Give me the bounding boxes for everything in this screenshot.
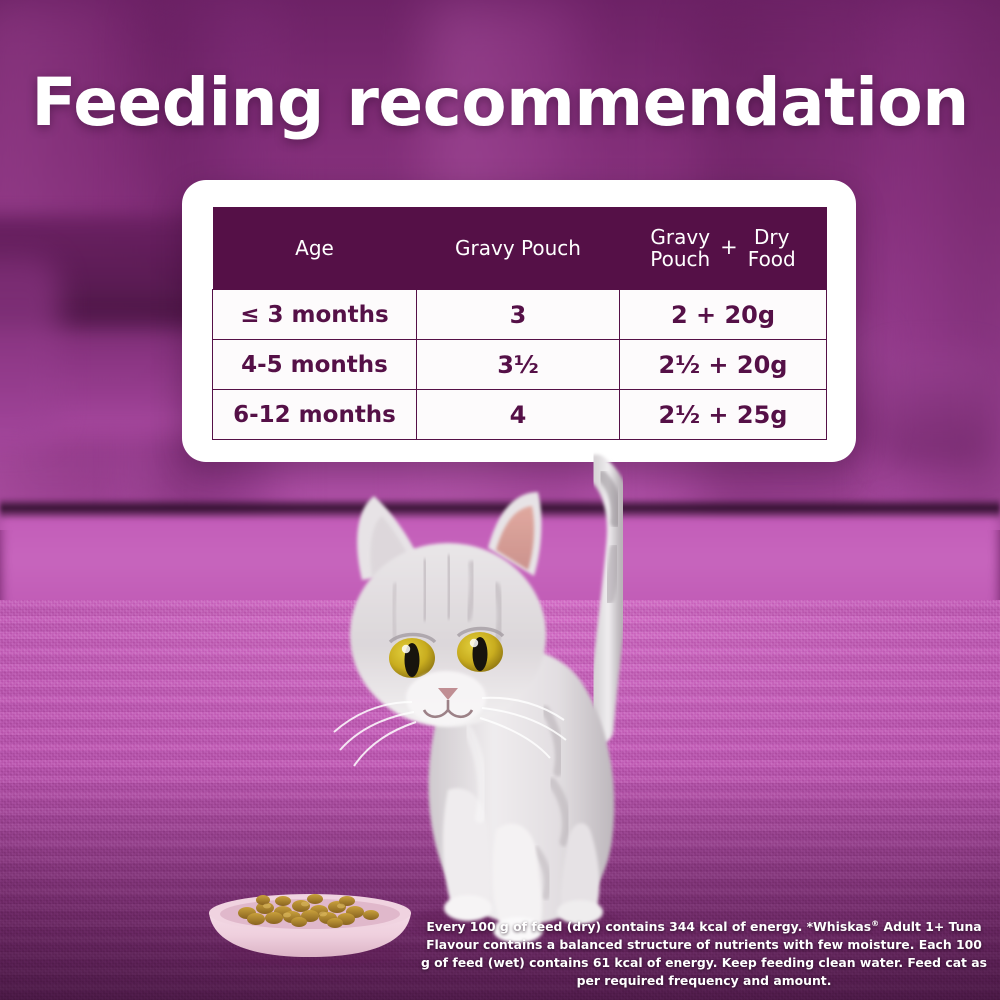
header-mixed-dry-line1: Dry <box>754 226 789 248</box>
registered-trademark-icon: ® <box>871 919 879 928</box>
cell-gravy-pouch: 3 <box>417 290 620 340</box>
page-title: Feeding recommendation <box>0 70 1000 136</box>
cell-age: ≤ 3 months <box>213 290 417 340</box>
table-header-row: Age Gravy Pouch Gravy Pouch + Dry Food <box>213 207 827 290</box>
cell-mixed: 2 + 20g <box>620 290 827 340</box>
food-bowl-image <box>195 885 425 965</box>
table-row: ≤ 3 months 3 2 + 20g <box>213 290 827 340</box>
cell-gravy-pouch: 3½ <box>417 340 620 390</box>
cell-mixed: 2½ + 20g <box>620 340 827 390</box>
disclaimer-line-1: Every 100 g of feed (dry) contains 344 k… <box>426 919 871 934</box>
disclaimer-text: Every 100 g of feed (dry) contains 344 k… <box>420 918 988 990</box>
header-mixed-dry-line2: Food <box>748 248 796 270</box>
header-age: Age <box>213 207 417 290</box>
blurred-sofa-arm <box>0 255 60 445</box>
kitten-image <box>300 430 720 950</box>
header-mixed-gravy-line1: Gravy <box>650 226 710 248</box>
blurred-furniture-right-2 <box>880 355 990 465</box>
advertisement-poster: Feeding recommendation Age Gravy Pouch G… <box>0 0 1000 1000</box>
feeding-recommendation-table: Age Gravy Pouch Gravy Pouch + Dry Food <box>212 207 827 440</box>
table-body: ≤ 3 months 3 2 + 20g 4-5 months 3½ 2½ + … <box>213 290 827 440</box>
cell-age: 4-5 months <box>213 340 417 390</box>
table-row: 4-5 months 3½ 2½ + 20g <box>213 340 827 390</box>
header-gravy-pouch: Gravy Pouch <box>417 207 620 290</box>
header-gravy-pouch-plus-dry-food: Gravy Pouch + Dry Food <box>620 207 827 290</box>
plus-icon: + <box>720 236 738 260</box>
feeding-table-card: Age Gravy Pouch Gravy Pouch + Dry Food <box>182 180 856 462</box>
header-mixed-gravy-line2: Pouch <box>650 248 710 270</box>
